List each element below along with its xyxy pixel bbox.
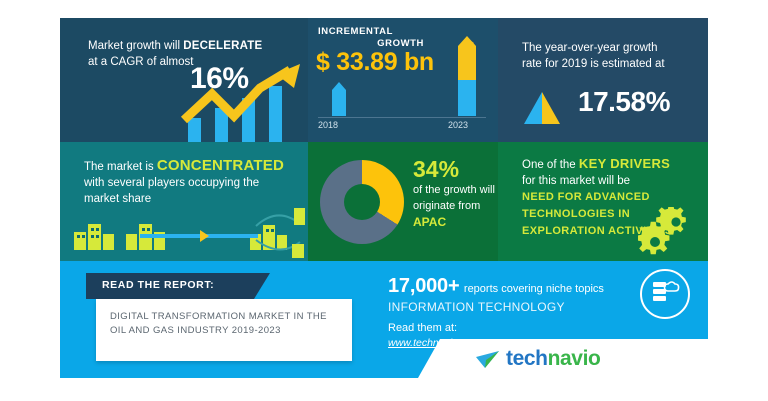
concentration-line-2: with several players occupying the: [84, 177, 259, 189]
apac-region: APAC: [413, 214, 501, 230]
panel-market-growth: Market growth will DECELERATE at a CAGR …: [60, 18, 308, 142]
concentration-highlight: CONCENTRATED: [157, 157, 284, 174]
column-2023-icon: [458, 36, 476, 116]
server-cloud-svg: [642, 271, 684, 313]
paper-plane-svg: [476, 351, 500, 369]
column-2018-icon: [332, 82, 346, 116]
read-the-report-ribbon: READ THE REPORT:: [86, 273, 254, 299]
yoy-value: 17.58%: [578, 86, 670, 118]
donut-chart: [320, 160, 404, 244]
report-count-suffix: reports covering niche topics: [464, 283, 604, 295]
concentration-copy: The market is CONCENTRATED with several …: [84, 158, 300, 207]
heading-line-1: INCREMENTAL: [318, 26, 393, 37]
panel-incremental-growth: INCREMENTAL GROWTH $ 33.89 bn: [308, 18, 498, 142]
apac-copy: 34% of the growth will originate from AP…: [413, 156, 501, 230]
ribbon-label: READ THE REPORT:: [102, 279, 214, 291]
transition-arrow-line: [140, 234, 258, 238]
incremental-growth-heading: INCREMENTAL GROWTH: [318, 26, 438, 50]
technavio-wordmark: technavio: [506, 347, 600, 371]
panel-yoy-growth: The year-over-year growth rate for 2019 …: [498, 18, 708, 142]
gears-icon: [638, 207, 700, 257]
panel-market-concentration: The market is CONCENTRATED with several …: [60, 142, 308, 261]
drivers-highlight: KEY DRIVERS: [579, 156, 670, 171]
yoy-line-1: The year-over-year growth: [522, 42, 658, 54]
gears-svg: [638, 207, 700, 257]
year-label-start: 2018: [318, 120, 338, 130]
transition-arrow-head-icon: [200, 230, 209, 242]
column-2018-shape: [332, 82, 346, 116]
technavio-logo-panel: technavio: [440, 339, 708, 378]
wordmark-tech: tech: [506, 347, 548, 370]
city-cluster-network-icon: [60, 204, 308, 259]
triangle-up-icon-right: [542, 92, 560, 124]
report-title: DIGITAL TRANSFORMATION MARKET IN THE OIL…: [110, 310, 346, 338]
infographic-board: Market growth will DECELERATE at a CAGR …: [60, 18, 708, 378]
paper-plane-icon: [476, 351, 500, 369]
city-cluster-svg: [60, 204, 308, 259]
middle-row: The market is CONCENTRATED with several …: [60, 142, 708, 261]
wordmark-navio: navio: [548, 347, 601, 370]
panel-key-drivers: One of the KEY DRIVERS for this market w…: [498, 142, 708, 261]
triangle-up-icon-left: [524, 92, 542, 124]
concentration-before: The market is: [84, 161, 157, 173]
apac-line-1: of the growth will: [413, 184, 495, 196]
drivers-line-2: for this market will be: [522, 175, 630, 187]
copy-highlight: DECELERATE: [183, 40, 262, 52]
yoy-copy: The year-over-year growth rate for 2019 …: [522, 40, 698, 72]
report-count: 17,000+: [388, 275, 459, 297]
copy-before: Market growth will: [88, 40, 183, 52]
yoy-line-2: rate for 2019 is estimated at: [522, 58, 665, 70]
incremental-growth-value: $ 33.89 bn: [316, 48, 434, 77]
apac-value: 34%: [413, 156, 501, 182]
drivers-before: One of the: [522, 159, 579, 171]
year-label-end: 2023: [448, 120, 468, 130]
top-row: Market growth will DECELERATE at a CAGR …: [60, 18, 708, 142]
panel-apac-share: 34% of the growth will originate from AP…: [308, 142, 498, 261]
axis-line: [318, 117, 486, 118]
market-growth-copy: Market growth will DECELERATE at a CAGR …: [88, 38, 288, 70]
report-title-card[interactable]: DIGITAL TRANSFORMATION MARKET IN THE OIL…: [96, 299, 352, 361]
copy-after: at a CAGR of almost: [88, 56, 193, 68]
cagr-value: 16%: [190, 62, 249, 96]
read-them-at-label: Read them at:: [388, 322, 688, 334]
server-cloud-icon: [640, 269, 690, 319]
column-2023-shape: [458, 36, 476, 116]
bottom-row: READ THE REPORT: DIGITAL TRANSFORMATION …: [60, 261, 708, 378]
infographic-canvas: Market growth will DECELERATE at a CAGR …: [0, 0, 768, 401]
apac-line-2: originate from: [413, 200, 480, 212]
driver-line-1: NEED FOR ADVANCED: [522, 189, 704, 206]
